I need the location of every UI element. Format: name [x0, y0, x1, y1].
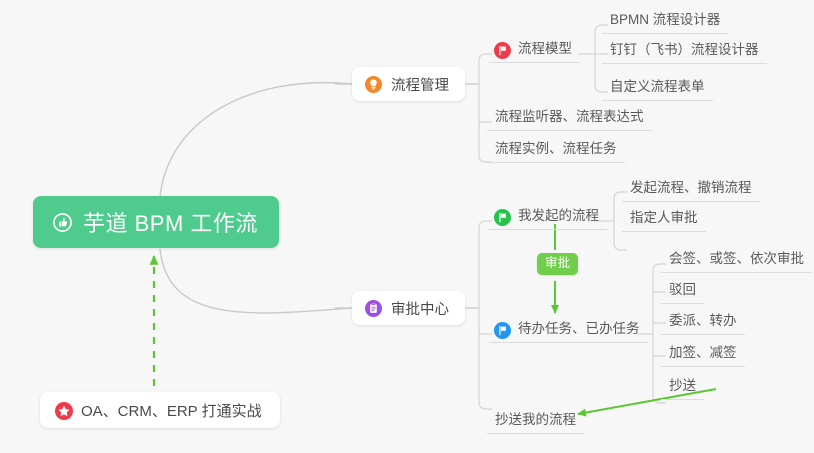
node-label-reject: 驳回	[669, 278, 696, 298]
node-label-process-instance: 流程实例、流程任务	[495, 137, 617, 157]
star-icon	[55, 402, 72, 419]
branch-label-process-management: 流程管理	[391, 74, 449, 95]
node-label-add-remove-sign: 加签、减签	[669, 341, 737, 361]
node-label-delegate-transfer: 委派、转办	[669, 309, 737, 329]
node-process-model[interactable]: 流程模型	[489, 37, 580, 63]
flag-icon	[494, 322, 511, 339]
node-start-cancel-process[interactable]: 发起流程、撤销流程	[622, 176, 760, 202]
flag-icon	[494, 42, 511, 59]
node-label-start-cancel-process: 发起流程、撤销流程	[630, 176, 752, 196]
node-dingtalk-designer[interactable]: 钉钉（飞书）流程设计器	[602, 38, 767, 64]
node-cc[interactable]: 抄送	[661, 374, 704, 400]
branch-node-process-management[interactable]: 流程管理	[352, 67, 465, 101]
node-label-cc: 抄送	[669, 374, 696, 394]
node-label-process-model: 流程模型	[518, 37, 572, 57]
bottom-card-label: OA、CRM、ERP 打通实战	[81, 400, 262, 421]
node-assigned-approval[interactable]: 指定人审批	[622, 206, 706, 232]
connector-root-to-process	[160, 83, 352, 197]
root-node-label: 芋道 BPM 工作流	[83, 206, 258, 238]
approval-flow-badge: 审批	[537, 253, 578, 275]
node-countersign[interactable]: 会签、或签、依次审批	[661, 247, 812, 273]
node-cc-to-me[interactable]: 抄送我的流程	[487, 408, 584, 434]
node-label-custom-form: 自定义流程表单	[610, 75, 705, 95]
node-todo-done-tasks[interactable]: 待办任务、已办任务	[489, 317, 648, 343]
node-label-my-initiated: 我发起的流程	[518, 204, 599, 224]
flag-icon	[494, 209, 511, 226]
clipboard-icon	[365, 300, 382, 317]
node-label-todo-done-tasks: 待办任务、已办任务	[518, 317, 640, 337]
root-node[interactable]: 芋道 BPM 工作流	[33, 196, 279, 248]
node-delegate-transfer[interactable]: 委派、转办	[661, 309, 745, 335]
approval-flow-badge-label: 审批	[545, 256, 570, 270]
lightbulb-icon	[365, 76, 382, 93]
node-label-bpmn-designer: BPMN 流程设计器	[610, 8, 720, 28]
node-label-dingtalk-designer: 钉钉（飞书）流程设计器	[610, 38, 759, 58]
node-process-listener[interactable]: 流程监听器、流程表达式	[487, 105, 652, 131]
node-my-initiated[interactable]: 我发起的流程	[489, 204, 607, 230]
bottom-card-integration[interactable]: OA、CRM、ERP 打通实战	[40, 392, 280, 428]
node-reject[interactable]: 驳回	[661, 278, 704, 304]
mindmap-canvas: 芋道 BPM 工作流 流程管理 审批中心	[0, 0, 814, 453]
node-add-remove-sign[interactable]: 加签、减签	[661, 341, 745, 367]
node-bpmn-designer[interactable]: BPMN 流程设计器	[602, 8, 728, 34]
branch-node-approval-center[interactable]: 审批中心	[352, 291, 465, 325]
thumbs-up-icon	[53, 213, 72, 232]
node-label-process-listener: 流程监听器、流程表达式	[495, 105, 644, 125]
node-label-cc-to-me: 抄送我的流程	[495, 408, 576, 428]
node-label-countersign: 会签、或签、依次审批	[669, 247, 804, 267]
node-custom-form[interactable]: 自定义流程表单	[602, 75, 713, 101]
branch-label-approval-center: 审批中心	[391, 298, 449, 319]
node-label-assigned-approval: 指定人审批	[630, 206, 698, 226]
node-process-instance[interactable]: 流程实例、流程任务	[487, 137, 625, 163]
connector-root-to-approval	[160, 249, 352, 313]
